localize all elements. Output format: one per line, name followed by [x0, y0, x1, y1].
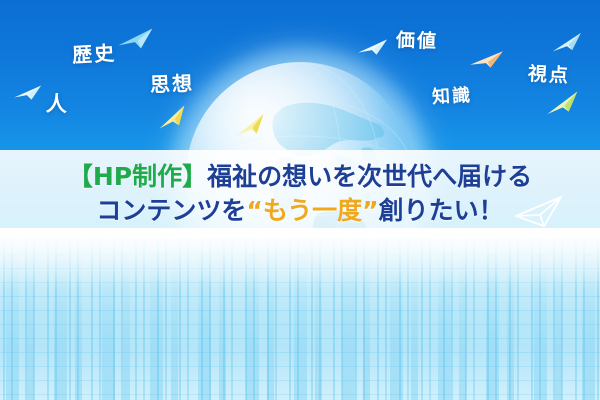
keyword-shiten: 視点: [527, 59, 570, 88]
keyword-chishiki: 知識: [431, 81, 472, 109]
keyword-shisou: 思想: [150, 67, 195, 98]
headline-line-2-part-b: 創りたい！: [379, 196, 504, 225]
paper-plane-cyan-top-left: [116, 28, 155, 58]
paper-plane-white-upper-right: [357, 38, 389, 62]
quote-close: ”: [362, 196, 378, 225]
promo-banner-image: 歴史 人 思想 価値 知識 視点 【HP制作】福祉の想いを次世代へ届ける コンテ…: [0, 0, 600, 400]
headline-line-2-part-a: コンテンツを: [96, 196, 246, 225]
headline-emphasis-mou-ichido: もう一度: [263, 196, 362, 225]
headline-banner: 【HP制作】福祉の想いを次世代へ届ける コンテンツを“もう一度”創りたい！: [0, 150, 600, 238]
keyword-rekishi: 歴史: [71, 37, 116, 68]
headline-tag-hp-seisaku: 【HP制作】: [68, 162, 207, 191]
quote-open: “: [246, 196, 262, 225]
headline-line-1-text: 福祉の想いを次世代へ届ける: [207, 162, 532, 191]
paper-plane-orange-right: [469, 50, 505, 75]
paper-plane-outline-white: [514, 194, 564, 233]
keyword-hito: 人: [45, 88, 69, 119]
keyword-kachi: 価値: [396, 25, 439, 53]
headline-line-2: コンテンツを“もう一度”創りたい！: [96, 194, 503, 229]
headline-line-1: 【HP制作】福祉の想いを次世代へ届ける: [68, 160, 532, 195]
paper-plane-white-far-left: [13, 85, 43, 108]
